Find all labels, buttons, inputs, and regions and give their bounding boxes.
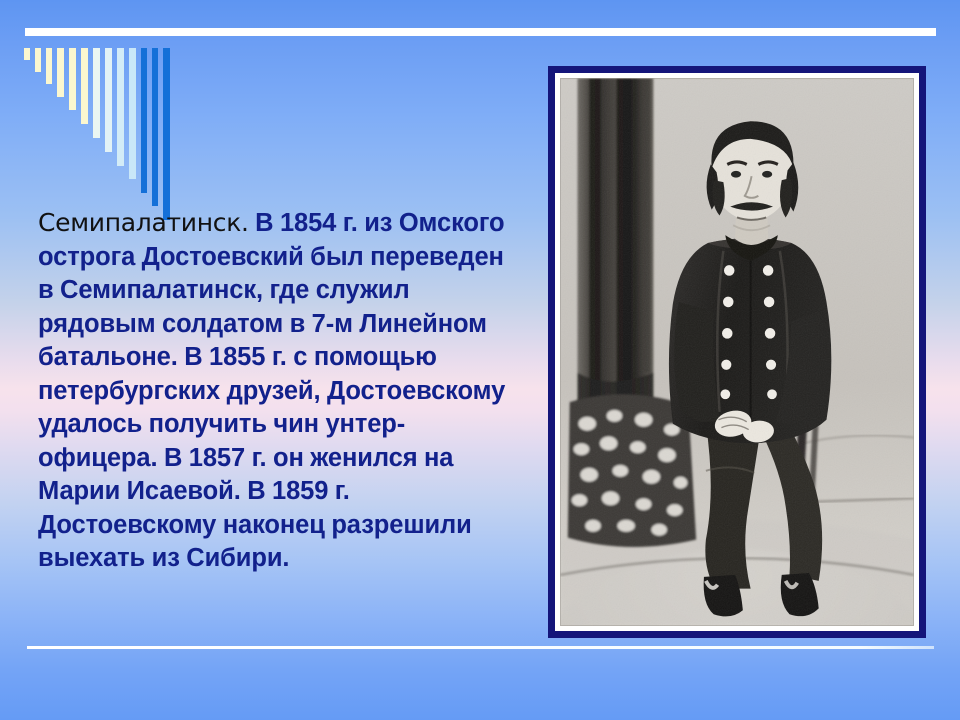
- photo-dostoevsky: [560, 78, 914, 626]
- decorative-bars: [24, 48, 184, 198]
- slide-canvas: Семипалатинск. В 1854 г. из Омского остр…: [0, 0, 960, 720]
- top-rule-divider: [25, 28, 936, 36]
- body-paragraph: В 1854 г. из Омского острога Достоевский…: [38, 209, 505, 572]
- decor-bar-9: [117, 48, 124, 166]
- decor-bar-5: [69, 48, 76, 110]
- decor-bar-2: [35, 48, 41, 72]
- body-text-block: Семипалатинск. В 1854 г. из Омского остр…: [38, 206, 508, 576]
- lead-term: Семипалатинск.: [38, 208, 249, 237]
- decor-bar-11: [141, 48, 147, 193]
- photo-frame: [548, 66, 926, 638]
- decor-bar-10: [129, 48, 136, 179]
- photo-illustration: [560, 78, 914, 626]
- decor-bar-8: [105, 48, 112, 152]
- decor-bar-3: [46, 48, 52, 84]
- decor-bar-12: [152, 48, 158, 206]
- decor-bar-1: [24, 48, 30, 60]
- bottom-rule-divider: [27, 646, 934, 649]
- decor-bar-6: [81, 48, 88, 124]
- decor-bar-13: [163, 48, 170, 220]
- decor-bar-7: [93, 48, 100, 138]
- decor-bar-4: [57, 48, 64, 97]
